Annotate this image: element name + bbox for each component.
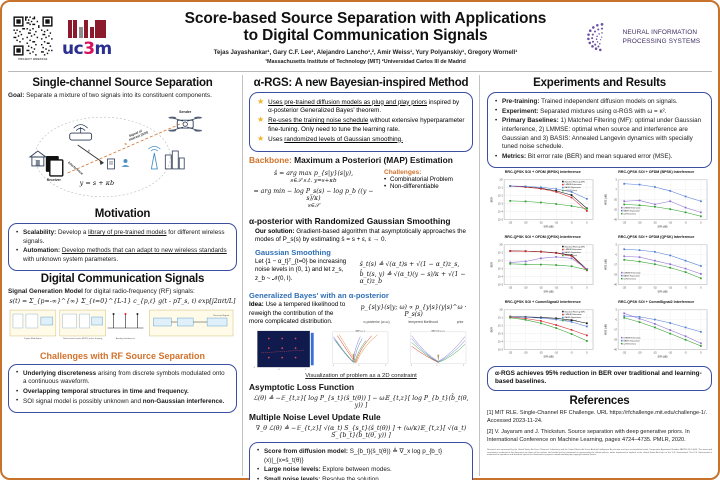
svg-text:0: 0 [359,365,360,367]
svg-text:5: 5 [615,180,617,182]
qr-caption: PROJECT WEBPAGE [10,58,56,61]
note-bold-0: Score from diffusion model: [264,448,348,455]
svg-text:MSE (dB): MSE (dB) [603,324,607,335]
svg-text:-29: -29 [613,274,617,276]
goal-label: Goal: [8,92,24,99]
note-rest-1: Explore between modes. [321,466,392,473]
svg-text:α-RGS (Ours): α-RGS (Ours) [565,189,578,192]
neurips-mark-icon [585,21,619,55]
svg-text:Matched Filtering (MF): Matched Filtering (MF) [565,245,586,248]
soi-router-node [70,125,92,140]
map-equation-2-sub: s∈𝒮 [249,203,378,210]
plot-cell-0: RRC-QPSK SOI + OFDM (BPSK) Interference … [487,170,599,233]
section-title-args: α-RGS: A new Bayesian-inspired Method [249,77,473,89]
svg-text:Digital Modulation: Digital Modulation [24,337,42,340]
author-list: Tejas Jayashankar¹, Gary C.F. Lee¹, Alej… [160,49,571,56]
svg-text:-5: -5 [570,221,573,224]
motivation-box: Scalability: Develop a library of pre-tr… [8,223,237,271]
section-title-challenges-rf: Challenges with RF Source Separation [8,351,237,361]
motivation-pre-0: Develop a [58,229,88,236]
setup-rest-3: Bit error rate (BER) and mean squared er… [526,153,672,160]
ber-chart-ofdm-bpsk: -25-20-15-10-5010⁻510⁻410⁻310⁻210⁻110⁰SI… [487,175,599,233]
svg-text:10⁻1: 10⁻1 [498,251,504,254]
sgm-equation: s(t) = Σ_{p=-∞}^{∞} Σ_{ℓ=0}^{L-1} c_{p,ℓ… [8,298,237,305]
setup-rest-0: Trained independent diffusion models on … [539,98,677,105]
svg-text:-10: -10 [668,221,672,224]
section-title-digital-comm: Digital Communication Signals [8,273,237,285]
setup-bold-3: Metrics: [502,153,526,160]
backbone-heading: Backbone: Maximum a Posteriori (MAP) Est… [249,155,473,165]
sgm-text: for digital radio-frequency (RF) signals… [85,288,195,295]
sgm-label: Signal Generation Model [8,288,83,295]
svg-text:α-RGS (Ours): α-RGS (Ours) [623,342,636,345]
list-item: ★ Uses randomized levels of Gaussian smo… [257,136,465,145]
svg-text:10⁻2: 10⁻2 [498,259,504,262]
gb-equation: p_{s|y}(s|y; ω) ∝ p_{y|s}(y|s)^ω · P_s(s… [354,304,473,318]
svg-text:SIR (dB): SIR (dB) [544,224,554,228]
svg-text:BER: BER [489,197,493,202]
conclusion-box: α-RGS achieves 95% reduction in BER over… [487,366,712,391]
poster-body: Single-channel Source Separation Goal: S… [8,72,712,476]
svg-text:5: 5 [615,310,617,312]
svg-text:-6: -6 [614,254,617,256]
svg-text:-25: -25 [508,351,512,354]
svg-text:Analog Interference: Analog Interference [116,337,136,340]
mit-logo [68,18,107,38]
svg-text:-17: -17 [613,329,617,331]
svg-text:LMMSE Estimation: LMMSE Estimation [565,183,582,186]
svg-text:SIR (dB): SIR (dB) [544,289,554,293]
svg-text:Matched Filtering (MF): Matched Filtering (MF) [565,180,586,183]
house-node [30,151,46,166]
svg-text:10⁰: 10⁰ [499,179,503,182]
svg-text:-20: -20 [524,351,528,354]
signal-generation-model-line: Signal Generation Model for digital radi… [8,288,237,295]
svg-text:0: 0 [700,221,702,224]
svg-text:10⁻1: 10⁻1 [498,186,504,189]
viz-map-curve-1: MAP ω = 1 -202 [320,329,395,371]
svg-text:0: 0 [586,286,588,289]
list-item: Metrics: Bit error rate (BER) and mean s… [495,153,704,162]
section-title-references: References [487,395,712,407]
svg-text:-15: -15 [539,221,543,224]
list-item: ★ Re-uses the training noise schedule wi… [257,117,465,134]
gaussian-smoothing-heading: Gaussian Smoothing [249,248,473,257]
ber-chart-commsignal2: -25-20-15-10-5010⁻510⁻410⁻310⁻210⁻110⁰SI… [487,305,599,363]
svg-text:SIR (dB): SIR (dB) [657,289,667,293]
svg-text:LMMSE Estimation: LMMSE Estimation [623,206,640,209]
highlight-prefix-2: Uses [268,136,284,143]
svg-text:10⁻2: 10⁻2 [498,194,504,197]
neurips-logo: NEURAL INFORMATION PROCESSING SYSTEMS [575,21,710,55]
svg-text:BER: BER [489,327,493,332]
svg-text:10⁰: 10⁰ [499,244,503,247]
plot-title-0: RRC-QPSK SOI + OFDM (BPSK) Interference [487,170,599,174]
svg-text:10⁻3: 10⁻3 [498,202,504,205]
svg-text:2: 2 [385,365,386,367]
svg-text:5: 5 [615,245,617,247]
update-equation: ∇_θ ℒ(θ) ≜ −𝔼_{t,z}[ √(α_t) S_{s_t}(ŝ_t(… [249,425,473,439]
svg-text:-25: -25 [508,221,512,224]
poster-title: Score-based Source Separation with Appli… [160,10,571,45]
svg-text:10⁻2: 10⁻2 [498,324,504,327]
motivation-link-1[interactable]: Develop methods that can adapt to new wi… [62,247,227,254]
loss-function-heading: Asymptotic Loss Function [249,382,473,392]
svg-text:10⁻3: 10⁻3 [498,267,504,270]
list-item: SOI signal model is possibly unknown and… [16,398,229,407]
svg-text:BASIS Separation: BASIS Separation [565,186,581,189]
svg-text:-20: -20 [637,221,641,224]
map-equation-1: ŝ = arg max p_{s|y}(s|y), [249,170,378,177]
motivation-label-automation: Automation: [23,247,60,254]
svg-text:BER: BER [489,262,493,267]
svg-text:MAP with ω = κ²: MAP with ω = κ² [432,329,446,332]
university-logos: uc3m [60,18,112,58]
alpha-posterior-heading: α-posterior with Randomized Gaussian Smo… [249,216,473,226]
svg-text:2: 2 [463,365,464,367]
svg-text:MSE (dB): MSE (dB) [603,259,607,270]
svg-text:BASIS Separation: BASIS Separation [623,339,639,342]
svg-text:-15: -15 [539,351,543,354]
svg-text:SIR (dB): SIR (dB) [657,224,667,228]
svg-text:10⁻5: 10⁻5 [498,283,504,286]
svg-text:0: 0 [278,369,279,371]
svg-text:0: 0 [586,221,588,224]
svg-text:10⁻5: 10⁻5 [498,348,504,351]
star-icon: ★ [257,98,264,116]
motivation-label-scalability: Scalability: [23,229,56,236]
generalized-bayes-row: Idea: Use a tempered likelihood to rewei… [249,301,473,327]
solution-text-block: Our solution: Gradient-based algorithm t… [249,228,473,245]
svg-text:-20: -20 [524,286,528,289]
svg-text:BASIS Separation: BASIS Separation [623,274,639,277]
svg-text:-17: -17 [613,264,617,266]
funding-disclaimer: Research was sponsored by the United Sta… [487,449,712,457]
note-bold-2: Small noise levels: [264,476,320,480]
svg-text:LMMSE Estimation: LMMSE Estimation [565,248,582,251]
svg-text:s: s [124,141,127,146]
svg-text:0: 0 [586,351,588,354]
svg-text:Matched Filtering (MF): Matched Filtering (MF) [565,310,586,313]
svg-text:-5: -5 [570,286,573,289]
poster-header: PROJECT WEBPAGE uc3m Score-based Source … [8,6,712,72]
mse-chart-ofdm-qpsk: -25-20-15-10-50-40-29-17-65SIR (dB)MSE (… [601,240,713,298]
challenge-bold-2: non-Gaussian interference. [143,398,225,405]
list-item: Large noise levels: Explore between mode… [257,466,465,475]
challenges-rf-box: Underlying discreteness arising from dis… [8,364,237,413]
svg-text:10⁰: 10⁰ [499,309,503,312]
goal-statement: Goal: Separate a mixture of two signals … [8,92,237,99]
svg-text:-25: -25 [622,221,626,224]
column-left: Single-channel Source Separation Goal: S… [8,75,237,476]
gb-label-0: α-posterior (α=ω) [364,320,390,324]
affiliation-list: ¹Massachusetts Institute of Technology (… [160,59,571,65]
interference-tower-node [148,147,184,169]
svg-text:-10: -10 [554,351,558,354]
neurips-wordmark: NEURAL INFORMATION PROCESSING SYSTEMS [623,29,701,46]
uc3m-logo: uc3m [62,41,112,58]
svg-text:-15: -15 [653,221,657,224]
list-item: Pre-training: Trained independent diffus… [495,98,704,107]
neurips-line2: PROCESSING SYSTEMS [623,38,701,47]
svg-text:10⁻4: 10⁻4 [498,340,504,343]
setup-bold-0: Pre-training: [502,98,539,105]
setup-bold-2: Primary Baselines: [502,117,559,124]
setup-rest-1: Separated mixtures using α-RGS with ω = … [538,108,666,115]
list-item: Primary Baselines: 1) Matched Filtering … [495,117,704,152]
svg-text:α-RGS (Ours): α-RGS (Ours) [565,319,578,322]
svg-text:-20: -20 [524,221,528,224]
mse-chart-commsignal2: -25-20-15-10-50-40-29-17-65SIR (dB)MSE (… [601,305,713,363]
svg-text:-25: -25 [622,286,626,289]
backbone-label: Backbone: [249,155,292,165]
svg-text:-5: -5 [684,221,687,224]
svg-text:10⁻4: 10⁻4 [498,210,504,213]
generalized-bayes-heading: Generalized Bayes' with an α-posterior [249,291,473,300]
experiment-setup-box: Pre-training: Trained independent diffus… [487,92,712,168]
list-item: Automation: Develop methods that can ada… [16,247,229,264]
list-item: Underlying discreteness arising from dis… [16,370,229,387]
svg-text:-2: -2 [411,365,413,367]
poster-title-line1: Score-based Source Separation with Appli… [160,10,571,27]
star-icon: ★ [257,135,264,145]
plot-cell-4: RRC-QPSK SOI + CommSignal2 Interference … [487,300,599,363]
svg-text:-10: -10 [554,221,558,224]
list-item: Scalability: Develop a library of pre-tr… [16,229,229,246]
idea-block: Idea: Use a tempered likelihood to rewei… [249,301,348,327]
note-rest-2: Resolve the solution. [320,476,380,480]
svg-text:BASIS Separation: BASIS Separation [623,209,639,212]
system-diagram: Sender [8,101,237,201]
svg-text:BASIS Separation: BASIS Separation [565,316,581,319]
map-estimation-row: ŝ = arg max p_{s|y}(s|y), s∈𝒮 s.t. y=s+κ… [249,167,473,213]
svg-text:0: 0 [700,286,702,289]
svg-text:-10: -10 [668,351,672,354]
svg-text:LMMSE Estimation: LMMSE Estimation [623,271,640,274]
svg-text:-7: -7 [614,189,617,191]
qr-code-icon[interactable] [12,15,54,57]
reference-list: [1] MIT RLE. Single-Channel RF Challenge… [487,410,712,445]
map-challenges: Challenges: Combinatorial Problem Non-di… [384,167,473,213]
gb-label-2: prior [457,320,464,324]
svg-text:-10: -10 [668,286,672,289]
svg-text:10⁻1: 10⁻1 [498,316,504,319]
svg-text:LMMSE Estimation: LMMSE Estimation [623,336,640,339]
svg-text:-29: -29 [613,339,617,341]
gs-equation-1: ŝ_t(s) ≜ √(α_t)s + √(1 − α_t)z_s, [360,261,473,268]
svg-text:Receiver: Receiver [47,178,62,182]
svg-text:-20: -20 [613,199,617,201]
svg-text:-40: -40 [613,284,617,286]
svg-text:Received Signal: Received Signal [213,315,229,317]
visualization-caption: Visualization of problem as a 2D constra… [249,373,473,379]
setup-bold-1: Experiment: [502,108,538,115]
signal-chain-figure: Digital Modulation Root-raised cosine (R… [8,308,237,342]
mixture-equation: y = s + κb [79,179,114,187]
plot-cell-2: RRC-QPSK SOI + OFDM (QPSK) Interference … [487,235,599,298]
qr-code-block[interactable]: PROJECT WEBPAGE [10,15,56,61]
list-item: Combinatorial Problem [384,176,473,183]
svg-text:10⁻5: 10⁻5 [498,218,504,221]
list-item: ★ Uses pre-trained diffusion models as p… [257,99,465,116]
svg-text:2: 2 [305,369,306,371]
plot-title-4: RRC-QPSK SOI + CommSignal2 Interference [487,300,599,304]
plot-cell-1: RRC-QPSK SOI + OFDM (BPSK) Interference … [601,170,713,233]
notes-box: Score from diffusion model: S_{b_t}(ŝ_t(… [249,442,473,480]
challenge-bold-0: Underlying discreteness [23,370,96,377]
list-item: Non-differentiable [384,183,473,190]
svg-text:-5: -5 [684,286,687,289]
args-highlights-box: ★ Uses pre-trained diffusion models as p… [249,92,473,152]
svg-text:α-RGS (Ours): α-RGS (Ours) [623,277,636,280]
list-item: Overlapping temporal structures in time … [16,388,229,397]
svg-text:-15: -15 [653,286,657,289]
gb-label-1: tempered likelihood [408,320,437,324]
gaussian-smoothing-row: Let {1 − α_t}ᵀ_{t=0} be increasing noise… [249,258,473,288]
svg-text:SIR (dB): SIR (dB) [657,354,667,358]
goal-text: Separate a mixture of two signals into i… [26,92,212,99]
section-title-experiments: Experiments and Results [487,77,712,89]
map-equation-1-sub: s∈𝒮 s.t. y=s+κb [249,178,378,185]
svg-text:-6: -6 [614,319,617,321]
svg-text:0: 0 [437,365,438,367]
svg-text:-15: -15 [653,351,657,354]
poster-title-line2: to Digital Communication Signals [160,27,571,44]
user-node [108,159,130,169]
idea-text: Use a tempered likelihood to reweigh the… [249,301,345,325]
section-title-motivation: Motivation [8,208,237,220]
svg-text:Sender: Sender [179,110,192,114]
svg-text:-2: -2 [254,367,256,369]
receiver-node: Receiver [46,156,63,182]
reference-item: [2] V. Jayaram and J. Thickstun. Source … [487,429,712,445]
svg-text:MSE (dB): MSE (dB) [603,194,607,205]
visualization-panels: -202 MAP ω = 1 -202 MAP with ω = κ² [249,329,473,371]
svg-text:-32: -32 [613,209,617,211]
list-item: Experiment: Separated mixtures using α-R… [495,108,704,117]
mse-chart-ofdm-bpsk: -25-20-15-10-50-45-32-20-75SIR (dB)MSE (… [601,175,713,233]
highlight-link-0[interactable]: Uses pre-trained diffusion models as plu… [268,99,427,106]
poster-root: PROJECT WEBPAGE uc3m Score-based Source … [0,0,720,480]
neurips-line1: NEURAL INFORMATION [623,29,701,38]
plot-cell-5: RRC-QPSK SOI + CommSignal2 Interference … [601,300,713,363]
highlight-link-2[interactable]: randomized levels of Gaussian smoothing. [284,136,403,143]
svg-text:-10: -10 [554,286,558,289]
svg-text:-20: -20 [637,286,641,289]
plot-title-5: RRC-QPSK SOI + CommSignal2 Interference [601,300,713,304]
svg-text:-20: -20 [637,351,641,354]
ber-chart-ofdm-qpsk: -25-20-15-10-5010⁻510⁻410⁻310⁻210⁻110⁰SI… [487,240,599,298]
svg-text:-5: -5 [570,351,573,354]
svg-text:LMMSE Estimation: LMMSE Estimation [565,313,582,316]
motivation-link-0[interactable]: library of pre-trained models [88,229,166,236]
sender-node: Sender [168,110,202,131]
svg-text:SIR (dB): SIR (dB) [544,354,554,358]
svg-text:α-RGS (Ours): α-RGS (Ours) [565,254,578,257]
svg-text:-25: -25 [622,351,626,354]
svg-text:Root-raised cosine (RRC) pulse: Root-raised cosine (RRC) pulse shaping [63,337,103,340]
svg-text:-45: -45 [613,219,617,221]
svg-text:10⁻3: 10⁻3 [498,332,504,335]
list-item: Score from diffusion model: S_{b_t}(ŝ_t(… [257,448,465,465]
section-title-source-separation: Single-channel Source Separation [8,77,237,89]
svg-text:10⁻4: 10⁻4 [498,275,504,278]
svg-text:Interference: Interference [67,161,84,176]
plot-title-1: RRC-QPSK SOI + OFDM (BPSK) Interference [601,170,713,174]
column-middle: α-RGS: A new Bayesian-inspired Method ★ … [242,75,480,476]
list-item: Small noise levels: Resolve the solution… [257,476,465,480]
header-title-block: Score-based Source Separation with Appli… [156,10,575,66]
idea-label: Idea: [249,301,264,308]
svg-text:-25: -25 [508,286,512,289]
backbone-title: Maximum a Posteriori (MAP) Estimation [294,155,453,165]
gs-text: Let {1 − α_t}ᵀ_{t=0} be increasing noise… [249,258,354,288]
update-rule-heading: Multiple Noise Level Update Rule [249,412,473,422]
svg-text:0: 0 [700,351,702,354]
note-bold-1: Large noise levels: [264,466,321,473]
plot-title-2: RRC-QPSK SOI + OFDM (QPSK) Interference [487,235,599,239]
svg-text:-2: -2 [333,365,335,367]
results-plot-grid: RRC-QPSK SOI + OFDM (BPSK) Interference … [487,170,712,363]
map-challenges-label: Challenges: [384,169,473,176]
plot-title-3: RRC-QPSK SOI + OFDM (QPSK) Interference [601,235,713,239]
svg-text:-5: -5 [684,351,687,354]
motivation-post-1: with unknown system parameters. [23,256,118,263]
star-icon: ★ [257,116,264,134]
loss-equation: ℒ(θ) ≜ −𝔼_{t,z}[ log P_{s_t}(ŝ_t(θ)) ] −… [249,395,473,409]
svg-text:-40: -40 [613,349,617,351]
svg-text:BASIS Separation: BASIS Separation [565,251,581,254]
map-equation-2: = arg min − log P_s(s) − log p_b ((y − s… [249,188,378,202]
challenge-bold-1: Overlapping temporal structures in time … [23,388,189,395]
svg-text:α-RGS (Ours): α-RGS (Ours) [623,212,636,215]
solution-label: Our solution: [255,228,295,235]
svg-text:MAP ω = 1: MAP ω = 1 [356,329,365,332]
viz-constraint-heatmap: -202 [249,329,317,371]
reference-item: [1] MIT RLE. Single-Channel RF Challenge… [487,410,712,426]
viz-map-curve-2: MAP with ω = κ² -202 [398,329,473,371]
challenge-rest-2: SOI signal model is possibly unknown and [23,398,143,405]
header-logos-left: PROJECT WEBPAGE uc3m [10,15,156,61]
highlight-link-1[interactable]: Re-uses the training noise schedule [268,117,368,124]
gs-equation-2: b̂_t(s, y) ≜ √(α_t)(y − s)/κ + √(1 − α_t… [360,271,473,285]
svg-text:-15: -15 [539,286,543,289]
plot-cell-3: RRC-QPSK SOI + OFDM (QPSK) Interference … [601,235,713,298]
column-right: Experiments and Results Pre-training: Tr… [485,75,712,476]
